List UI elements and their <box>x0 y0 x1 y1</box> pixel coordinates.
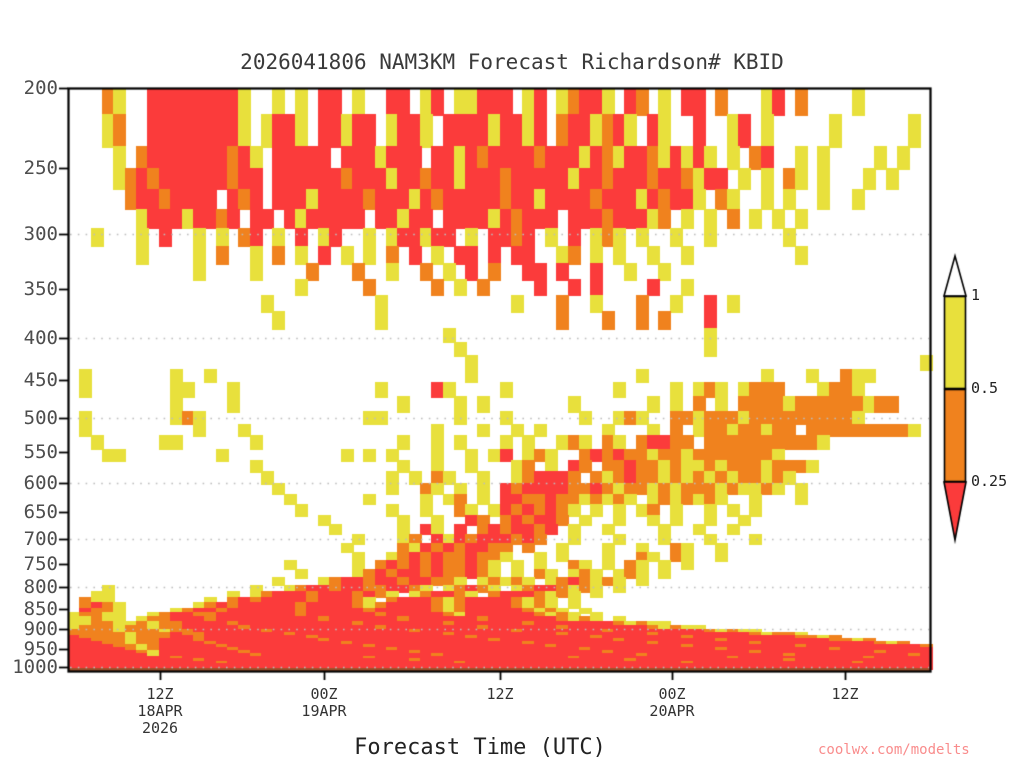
x-tick-line-1: 19APR <box>264 703 384 720</box>
x-tick-line-0: 12Z <box>785 686 905 703</box>
x-axis-title: Forecast Time (UTC) <box>200 735 760 760</box>
x-tick-line-0: 00Z <box>264 686 384 703</box>
y-axis-tick-700: 700 <box>4 528 58 550</box>
x-tick-line-1: 20APR <box>612 703 732 720</box>
y-axis-tick-400: 400 <box>4 327 58 349</box>
colorbar-tick-0.5: 0.5 <box>971 379 998 397</box>
y-axis-tick-1000: 1000 <box>4 656 58 678</box>
y-axis-tick-250: 250 <box>4 157 58 179</box>
y-axis-tick-200: 200 <box>4 77 58 99</box>
chart-figure: 2026041806 NAM3KM Forecast Richardson# K… <box>0 0 1024 768</box>
y-axis-tick-600: 600 <box>4 472 58 494</box>
watermark-link[interactable]: coolwx.com/modelts <box>818 742 970 758</box>
y-axis-tick-800: 800 <box>4 576 58 598</box>
x-axis-tick-4: 12Z <box>785 686 905 703</box>
y-axis-tick-500: 500 <box>4 407 58 429</box>
x-tick-line-0: 12Z <box>100 686 220 703</box>
x-tick-line-0: 00Z <box>612 686 732 703</box>
x-axis-tick-2: 12Z <box>440 686 560 703</box>
y-axis-tick-850: 850 <box>4 598 58 620</box>
x-axis-tick-0: 12Z18APR2026 <box>100 686 220 737</box>
chart-title: 2026041806 NAM3KM Forecast Richardson# K… <box>0 50 1024 74</box>
y-axis-tick-450: 450 <box>4 369 58 391</box>
colorbar-tick-0.25: 0.25 <box>971 472 1007 490</box>
x-axis-tick-3: 00Z20APR <box>612 686 732 720</box>
y-axis-tick-650: 650 <box>4 501 58 523</box>
colorbar-tick-1: 1 <box>971 286 980 304</box>
y-axis-tick-350: 350 <box>4 278 58 300</box>
x-axis-tick-1: 00Z19APR <box>264 686 384 720</box>
y-axis-tick-300: 300 <box>4 223 58 245</box>
y-axis-tick-750: 750 <box>4 553 58 575</box>
richardson-number-heatmap-canvas <box>0 0 1024 768</box>
y-axis-tick-550: 550 <box>4 441 58 463</box>
x-tick-line-0: 12Z <box>440 686 560 703</box>
y-axis-tick-labels: 2002503003504004505005506006507007508008… <box>0 0 58 768</box>
x-tick-line-1: 18APR <box>100 703 220 720</box>
